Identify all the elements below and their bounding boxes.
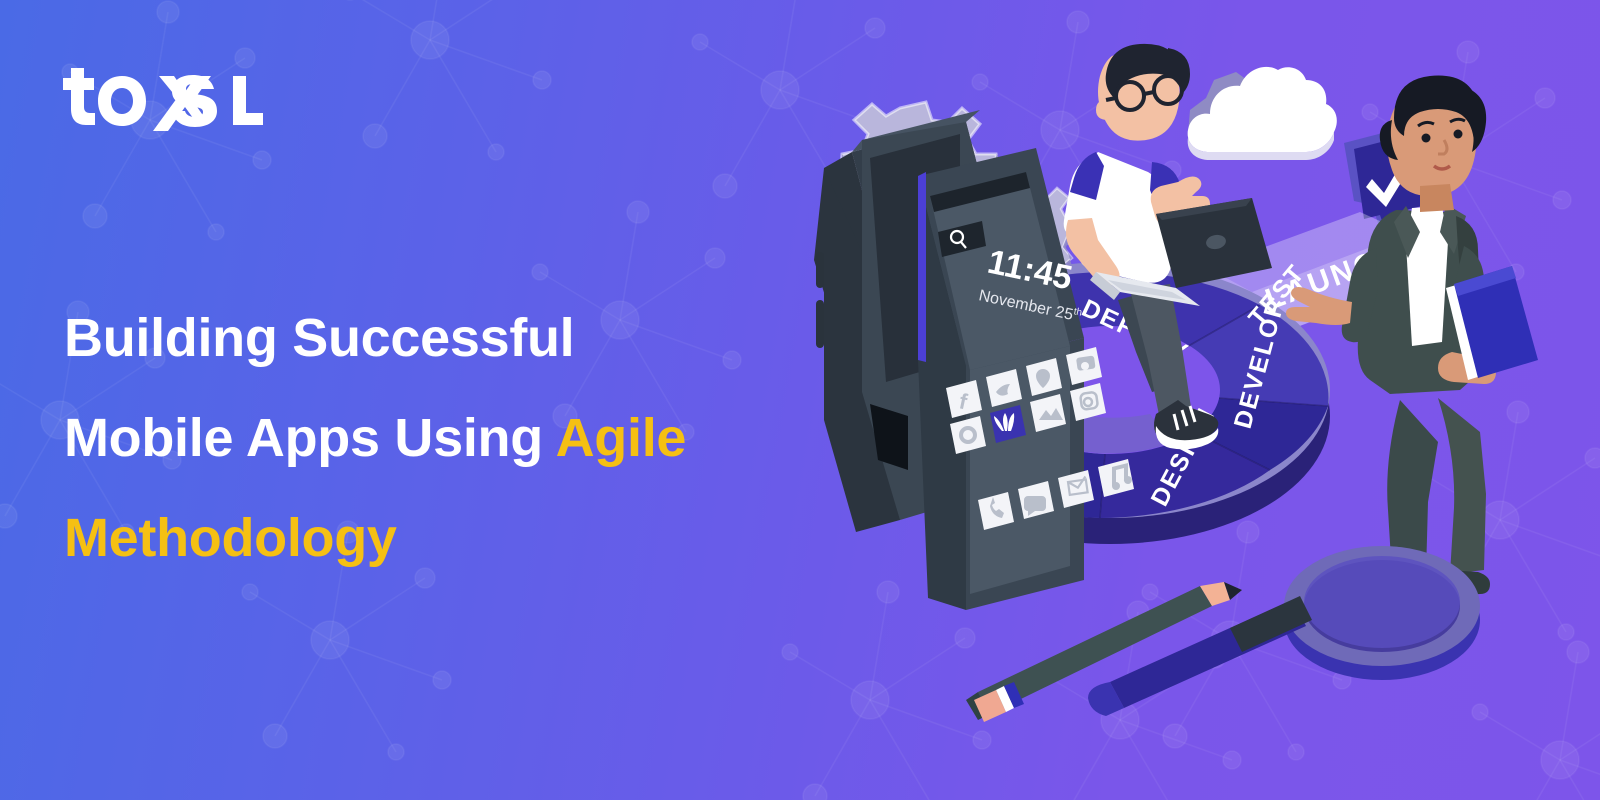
developer-head bbox=[1096, 44, 1190, 141]
page-title: Building Successful Mobile Apps Using Ag… bbox=[64, 288, 824, 588]
headline-line-1: Building Successful bbox=[64, 288, 824, 388]
hero-banner: Building Successful Mobile Apps Using Ag… bbox=[0, 0, 1600, 800]
agile-cycle-illustration: LAUNCH bbox=[800, 0, 1600, 800]
headline-line-2-plain: Mobile Apps Using bbox=[64, 408, 556, 468]
headline-highlight-methodology: Methodology bbox=[64, 488, 824, 588]
toxsl-logo[interactable] bbox=[63, 56, 263, 132]
headline-line-2: Mobile Apps Using Agile bbox=[64, 388, 824, 488]
cloud-icon bbox=[1188, 67, 1337, 160]
headline-highlight-agile: Agile bbox=[556, 408, 687, 468]
woman-with-folder-character bbox=[1286, 76, 1538, 598]
